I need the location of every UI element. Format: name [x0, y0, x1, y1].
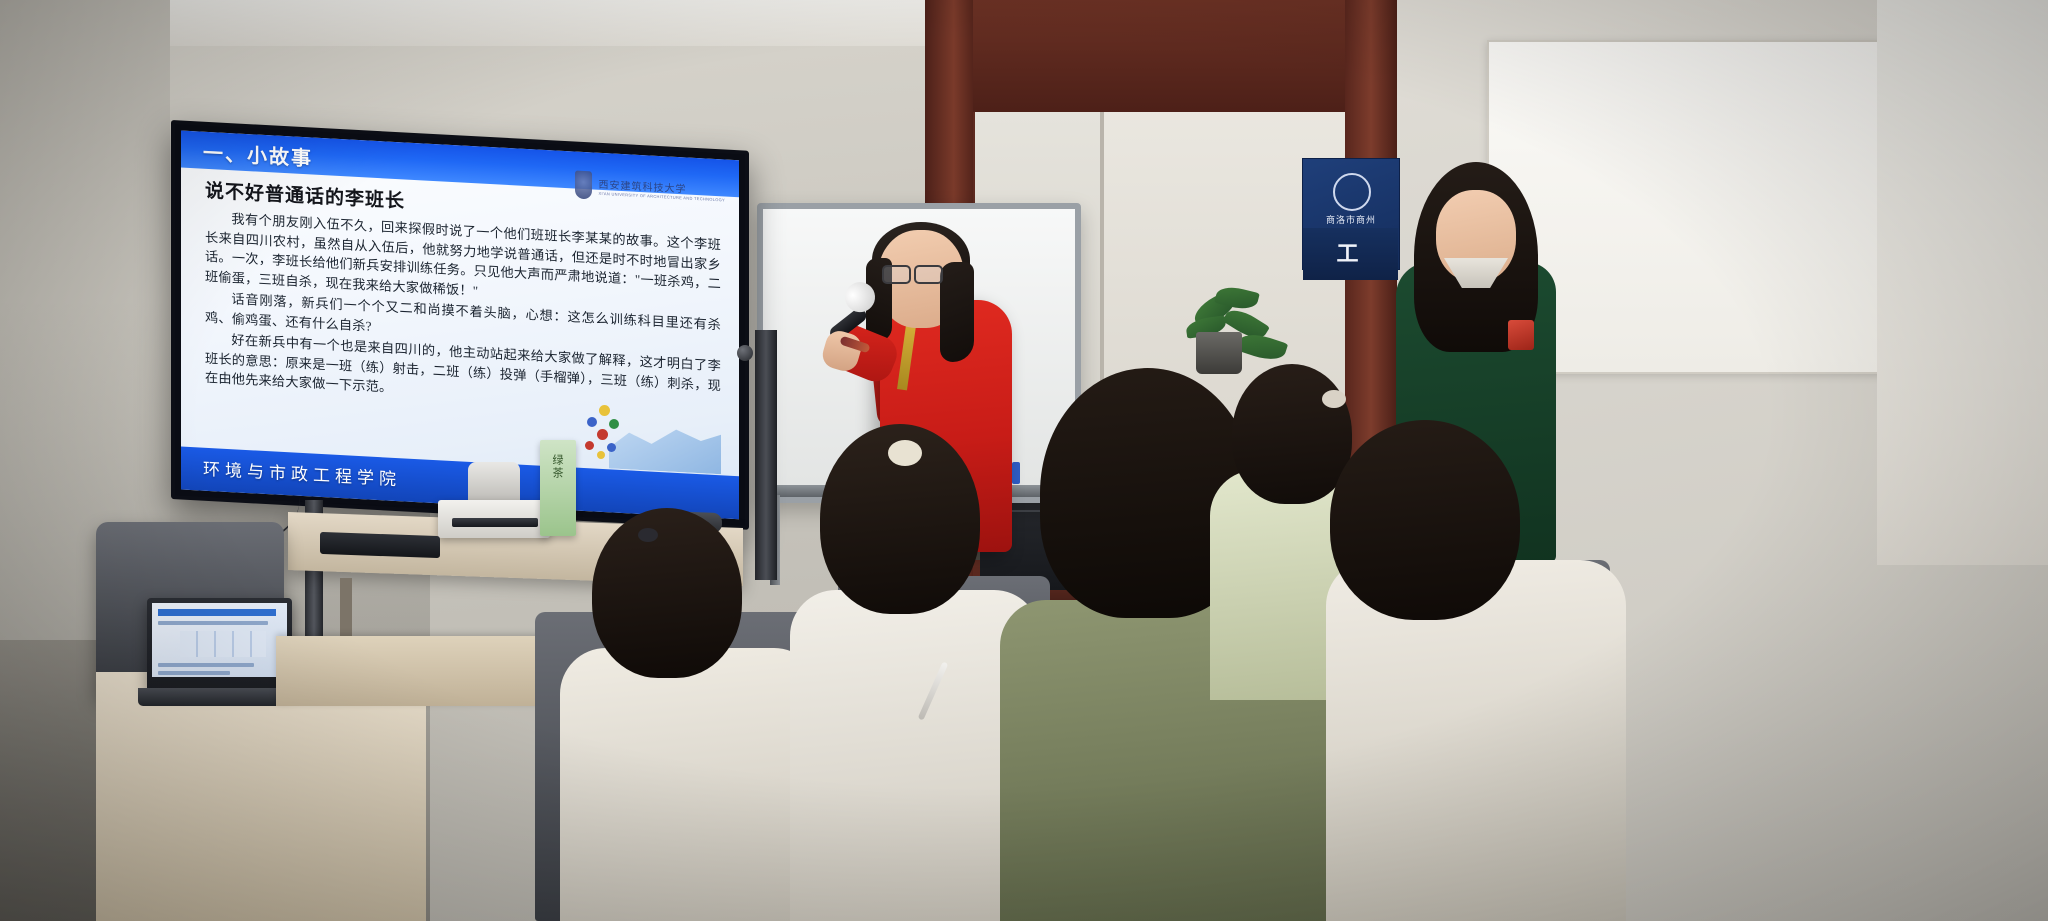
slide-section-title: 一、小故事: [203, 137, 313, 172]
door-plate: 工: [1303, 228, 1398, 280]
hair-tie-right: [1322, 390, 1346, 408]
presenter-glasses-icon: [882, 265, 942, 280]
laptop[interactable]: [147, 598, 292, 690]
wall-sign-line-1: 商洛市商州: [1309, 213, 1393, 226]
front-left-desk: [96, 672, 426, 921]
classroom-photo: 名 式 内 阅 办 商洛市商州 城市管理进社区 工: [0, 0, 2048, 921]
tea-box: 绿茶: [540, 440, 576, 536]
presentation-display: 一、小故事 西安建筑科技大学 XI'AN UNIVERSITY OF ARCHI…: [171, 120, 749, 530]
powerpoint-slide: 一、小故事 西安建筑科技大学 XI'AN UNIVERSITY OF ARCHI…: [181, 131, 739, 520]
slide-body: 我有个朋友刚入伍不久，回来探假时说了一个他们班班长李某某的故事。这个李班长来自四…: [205, 208, 721, 417]
slide-heading: 说不好普通话的李班长: [205, 176, 405, 214]
door-frame-inner: [1877, 0, 2048, 565]
camera-base-strip: [452, 518, 538, 527]
university-crest-icon: [575, 171, 592, 200]
display-bezel: 一、小故事 西安建筑科技大学 XI'AN UNIVERSITY OF ARCHI…: [175, 124, 745, 525]
slide-footer-text: 环境与市政工程学院: [203, 455, 401, 491]
emblem-icon: [1333, 173, 1371, 211]
door-plate-text: 工: [1303, 228, 1398, 280]
assistant-badge: [1508, 320, 1534, 350]
tea-box-label: 绿茶: [549, 454, 565, 480]
presenter-hair-right: [940, 262, 974, 362]
hair-tie: [638, 528, 658, 542]
laptop-screen: [152, 603, 287, 677]
hair-flower: [888, 440, 922, 466]
plant-pot: [1196, 332, 1242, 374]
display-stand-post: [755, 330, 777, 580]
keyboard[interactable]: [320, 532, 440, 558]
display-mount-knob: [737, 345, 753, 361]
marker-blue[interactable]: [1012, 462, 1020, 484]
door-header: [930, 0, 1392, 112]
molecule-model: [585, 405, 627, 459]
